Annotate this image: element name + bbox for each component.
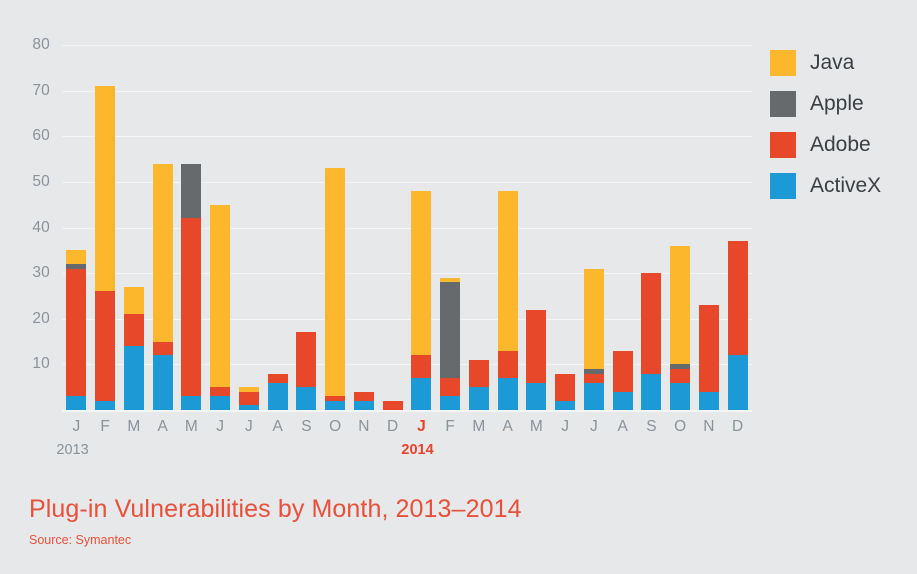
bar-segment-apple[interactable] [181,164,201,219]
x-axis-tick-label: J [552,418,578,436]
bar-segment-java[interactable] [95,86,115,291]
bar-segment-activex[interactable] [728,355,748,410]
plot-area [62,45,752,410]
chart-legend: JavaAppleAdobeActiveX [770,42,910,206]
x-axis-tick-label: O [667,418,693,436]
x-axis-tick-label: M [178,418,204,436]
y-axis-tick-label: 50 [32,173,50,191]
bar-segment-activex[interactable] [526,383,546,410]
bar-group[interactable] [66,45,86,410]
bar-segment-adobe[interactable] [498,351,518,378]
x-axis-tick-label: A [610,418,636,436]
legend-item-java[interactable]: Java [770,42,910,83]
bar-segment-adobe[interactable] [383,401,403,410]
bar-segment-activex[interactable] [411,378,431,410]
bar-group[interactable] [383,45,403,410]
x-axis-tick-label: O [322,418,348,436]
x-axis-tick-label: N [351,418,377,436]
bar-segment-adobe[interactable] [584,374,604,383]
x-axis-tick-label: S [293,418,319,436]
legend-item-label: Java [810,51,854,75]
bar-segment-apple[interactable] [66,264,86,269]
bar-segment-adobe[interactable] [526,310,546,383]
y-axis-tick-label: 40 [32,219,50,237]
bar-segment-java[interactable] [66,250,86,264]
bar-segment-activex[interactable] [699,392,719,410]
x-axis-year-label: 2013 [56,442,88,458]
y-axis: 8070605040302010 [0,45,58,410]
legend-item-label: Apple [810,92,864,116]
bar-segment-adobe[interactable] [411,355,431,378]
bar-segment-java[interactable] [153,164,173,342]
y-axis-tick-label: 20 [32,310,50,328]
bar-group[interactable] [728,45,748,410]
bar-group[interactable] [181,45,201,410]
bar-segment-activex[interactable] [354,401,374,410]
bar-segment-adobe[interactable] [555,374,575,401]
bar-segment-apple[interactable] [670,364,690,369]
x-axis-tick-label: A [495,418,521,436]
x-axis-tick-label: J [236,418,262,436]
bar-segment-adobe[interactable] [66,269,86,397]
bar-segment-activex[interactable] [440,396,460,410]
chart-title: Plug-in Vulnerabilities by Month, 2013–2… [29,495,729,524]
bar-group[interactable] [699,45,719,410]
x-axis-tick-label: F [437,418,463,436]
bar-segment-activex[interactable] [296,387,316,410]
bar-group[interactable] [670,45,690,410]
bar-segment-activex[interactable] [124,346,144,410]
legend-item-adobe[interactable]: Adobe [770,124,910,165]
bar-group[interactable] [325,45,345,410]
bar-segment-java[interactable] [239,387,259,392]
legend-item-activex[interactable]: ActiveX [770,165,910,206]
bar-segment-activex[interactable] [555,401,575,410]
bar-segment-adobe[interactable] [699,305,719,392]
x-axis-year-label: 2014 [401,442,433,458]
x-axis-tick-label: J [581,418,607,436]
bar-segment-adobe[interactable] [469,360,489,387]
bar-segment-activex[interactable] [181,396,201,410]
bar-segment-activex[interactable] [670,383,690,410]
bar-segment-adobe[interactable] [325,396,345,401]
bar-segment-adobe[interactable] [641,273,661,373]
y-axis-tick-label: 30 [32,264,50,282]
x-axis-tick-label: F [92,418,118,436]
legend-swatch-icon [770,91,796,117]
bar-group[interactable] [613,45,633,410]
x-axis-tick-label: A [265,418,291,436]
bar-segment-activex[interactable] [239,405,259,410]
bar-segment-apple[interactable] [584,369,604,374]
x-axis-tick-label: D [380,418,406,436]
bar-segment-java[interactable] [584,269,604,369]
bar-segment-activex[interactable] [210,396,230,410]
bar-group[interactable] [296,45,316,410]
chart-caption: Plug-in Vulnerabilities by Month, 2013–2… [29,495,729,547]
bar-segment-activex[interactable] [95,401,115,410]
bar-segment-activex[interactable] [325,401,345,410]
bar-group[interactable] [239,45,259,410]
x-axis-tick-label: A [150,418,176,436]
x-axis-tick-label: J [63,418,89,436]
y-axis-tick-label: 60 [32,127,50,145]
bar-group[interactable] [469,45,489,410]
x-axis-tick-label: N [696,418,722,436]
bar-segment-activex[interactable] [66,396,86,410]
bar-segment-adobe[interactable] [153,342,173,356]
bar-segment-adobe[interactable] [239,392,259,406]
legend-swatch-icon [770,173,796,199]
bar-segment-adobe[interactable] [440,378,460,396]
bar-segment-adobe[interactable] [181,218,201,396]
bar-segment-adobe[interactable] [728,241,748,355]
legend-item-label: Adobe [810,133,871,157]
bar-segment-adobe[interactable] [613,351,633,392]
bar-segment-java[interactable] [411,191,431,355]
bar-group[interactable] [210,45,230,410]
bar-segment-java[interactable] [498,191,518,351]
y-axis-tick-label: 80 [32,36,50,54]
bar-group[interactable] [641,45,661,410]
y-axis-tick-label: 70 [32,82,50,100]
x-axis-tick-label: M [523,418,549,436]
x-axis-tick-label: J [408,418,434,436]
bar-segment-adobe[interactable] [296,332,316,387]
bar-segment-adobe[interactable] [268,374,288,383]
bar-segment-activex[interactable] [584,383,604,410]
bar-group[interactable] [411,45,431,410]
bar-group[interactable] [526,45,546,410]
bar-group[interactable] [124,45,144,410]
bar-segment-java[interactable] [440,278,460,283]
bar-group[interactable] [584,45,604,410]
bar-group[interactable] [354,45,374,410]
bar-segment-java[interactable] [670,246,690,365]
bar-segment-activex[interactable] [613,392,633,410]
bar-segment-activex[interactable] [153,355,173,410]
bar-segment-activex[interactable] [641,374,661,411]
legend-swatch-icon [770,132,796,158]
bar-group[interactable] [498,45,518,410]
bar-segment-adobe[interactable] [670,369,690,383]
x-axis-tick-label: D [725,418,751,436]
x-axis-tick-label: S [638,418,664,436]
bar-segment-java[interactable] [210,205,230,388]
chart-figure: 8070605040302010 JFMAMJJASONDJFMAMJJASON… [0,0,917,574]
x-axis-tick-label: M [466,418,492,436]
bar-segment-adobe[interactable] [354,392,374,401]
bar-segment-activex[interactable] [469,387,489,410]
x-axis-tick-label: J [207,418,233,436]
bar-group[interactable] [555,45,575,410]
x-axis: JFMAMJJASONDJFMAMJJASOND20132014 [62,412,752,472]
legend-item-apple[interactable]: Apple [770,83,910,124]
legend-item-label: ActiveX [810,174,881,198]
bar-series-container [62,45,752,410]
bar-segment-java[interactable] [124,287,144,314]
bar-group[interactable] [95,45,115,410]
bar-segment-activex[interactable] [268,383,288,410]
bar-segment-apple[interactable] [440,282,460,378]
bar-group[interactable] [268,45,288,410]
bar-group[interactable] [440,45,460,410]
chart-source: Source: Symantec [29,533,729,547]
legend-swatch-icon [770,50,796,76]
bar-segment-activex[interactable] [498,378,518,410]
x-axis-tick-label: M [121,418,147,436]
y-axis-tick-label: 10 [32,355,50,373]
bar-segment-adobe[interactable] [210,387,230,396]
bar-group[interactable] [153,45,173,410]
bar-segment-java[interactable] [325,168,345,396]
bar-segment-adobe[interactable] [95,291,115,401]
bar-segment-adobe[interactable] [124,314,144,346]
